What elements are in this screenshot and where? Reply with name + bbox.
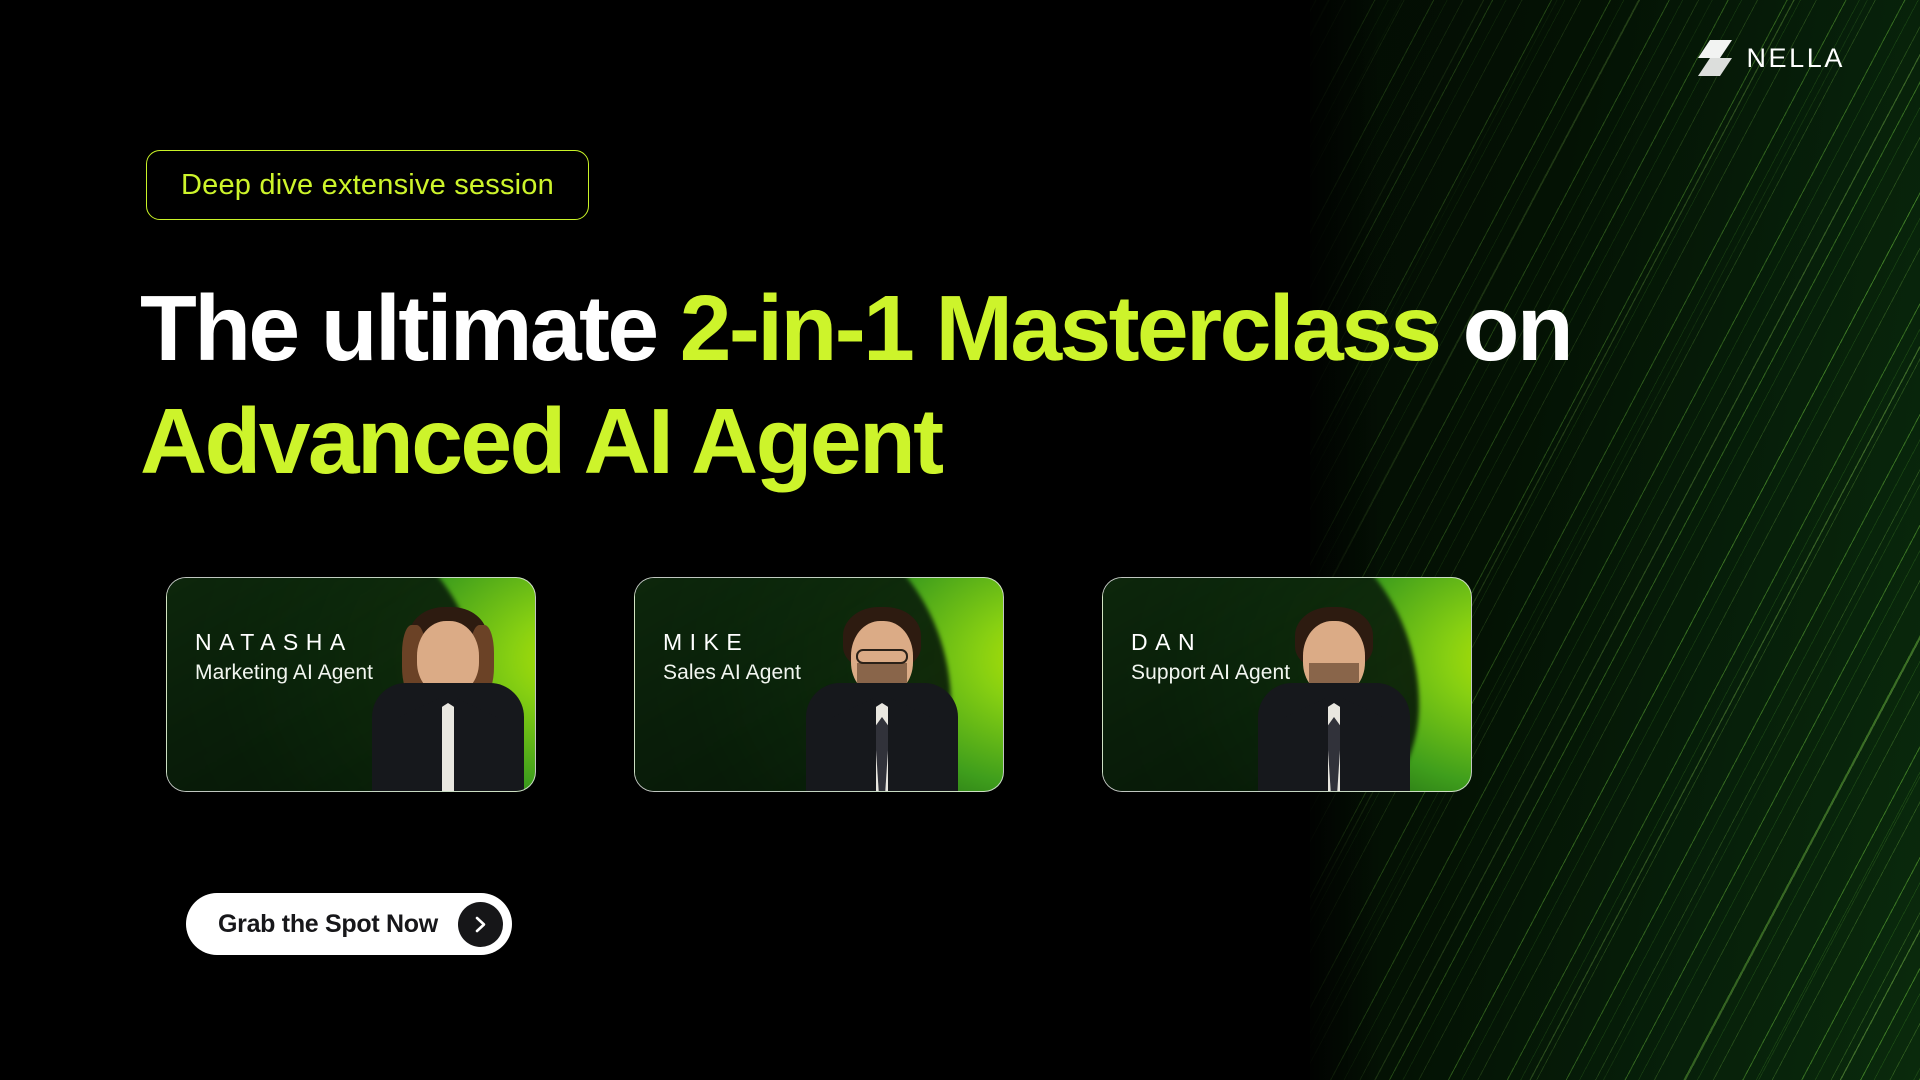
headline-part-1: The ultimate bbox=[140, 276, 680, 380]
agent-name: NATASHA bbox=[195, 628, 373, 657]
cta-label: Grab the Spot Now bbox=[218, 910, 438, 939]
chevron-right-icon bbox=[458, 902, 503, 947]
session-badge-label: Deep dive extensive session bbox=[181, 169, 554, 202]
agent-role: Support AI Agent bbox=[1131, 661, 1290, 685]
brand-name: NELLA bbox=[1746, 43, 1845, 74]
agent-card-list: NATASHA Marketing AI Agent MIKE Sales AI bbox=[166, 577, 1472, 792]
agent-card-dan[interactable]: DAN Support AI Agent bbox=[1102, 577, 1472, 792]
agent-name: DAN bbox=[1131, 628, 1290, 657]
agent-role: Sales AI Agent bbox=[663, 661, 801, 685]
headline-accent-2: Advanced AI Agent bbox=[140, 389, 942, 493]
headline-accent-1: 2-in-1 Masterclass bbox=[680, 276, 1440, 380]
headline-part-2: on bbox=[1439, 276, 1571, 380]
diagonal-streaks-decoration bbox=[1310, 0, 1920, 1080]
hero-banner: NELLA Deep dive extensive session The ul… bbox=[0, 0, 1920, 1080]
man-glasses-portrait bbox=[797, 601, 967, 791]
woman-portrait bbox=[363, 601, 533, 791]
brand-logo[interactable]: NELLA bbox=[1698, 40, 1845, 76]
grab-the-spot-button[interactable]: Grab the Spot Now bbox=[186, 893, 512, 955]
agent-role: Marketing AI Agent bbox=[195, 661, 373, 685]
lightning-bolt-icon bbox=[1698, 40, 1732, 76]
agent-card-copy: NATASHA Marketing AI Agent bbox=[195, 628, 373, 685]
agent-card-mike[interactable]: MIKE Sales AI Agent bbox=[634, 577, 1004, 792]
page-title: The ultimate 2-in-1 Masterclass on Advan… bbox=[140, 272, 1840, 499]
agent-name: MIKE bbox=[663, 628, 801, 657]
agent-card-copy: MIKE Sales AI Agent bbox=[663, 628, 801, 685]
agent-card-copy: DAN Support AI Agent bbox=[1131, 628, 1290, 685]
session-badge: Deep dive extensive session bbox=[146, 150, 589, 220]
agent-card-natasha[interactable]: NATASHA Marketing AI Agent bbox=[166, 577, 536, 792]
